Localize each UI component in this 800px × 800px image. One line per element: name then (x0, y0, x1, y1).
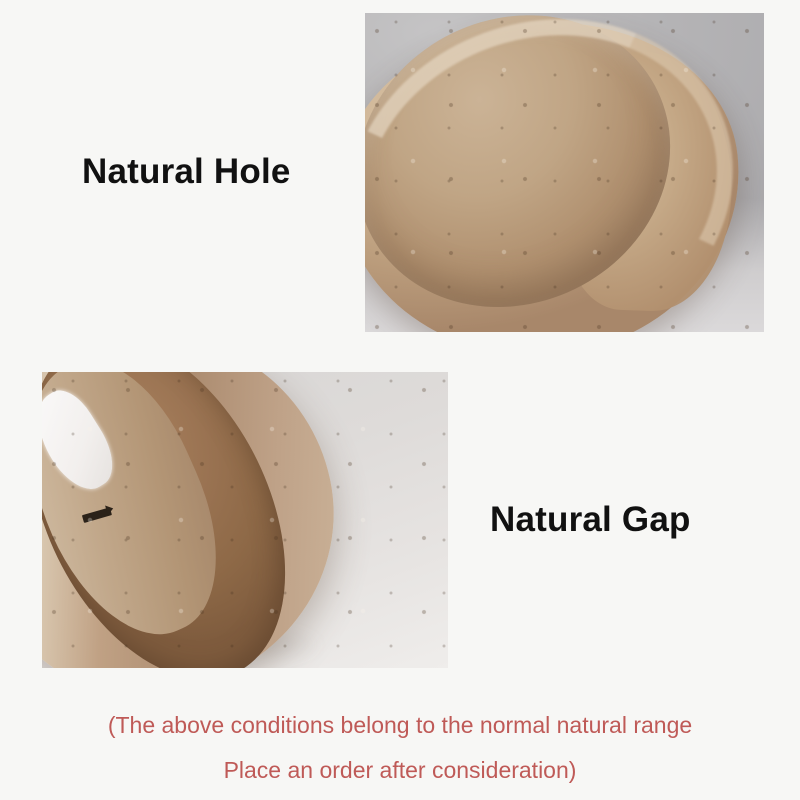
photo-natural-hole-content (365, 13, 764, 332)
promo-image-canvas: Natural Hole Natural Gap (The above cond… (0, 0, 800, 800)
label-natural-gap: Natural Gap (490, 500, 691, 540)
caption-line-2: Place an order after consideration) (0, 757, 800, 784)
photo-natural-hole (365, 13, 764, 332)
label-natural-hole: Natural Hole (82, 152, 291, 192)
photo-natural-gap (42, 372, 448, 668)
photo-natural-gap-content (42, 372, 448, 668)
caption-line-1: (The above conditions belong to the norm… (0, 712, 800, 739)
